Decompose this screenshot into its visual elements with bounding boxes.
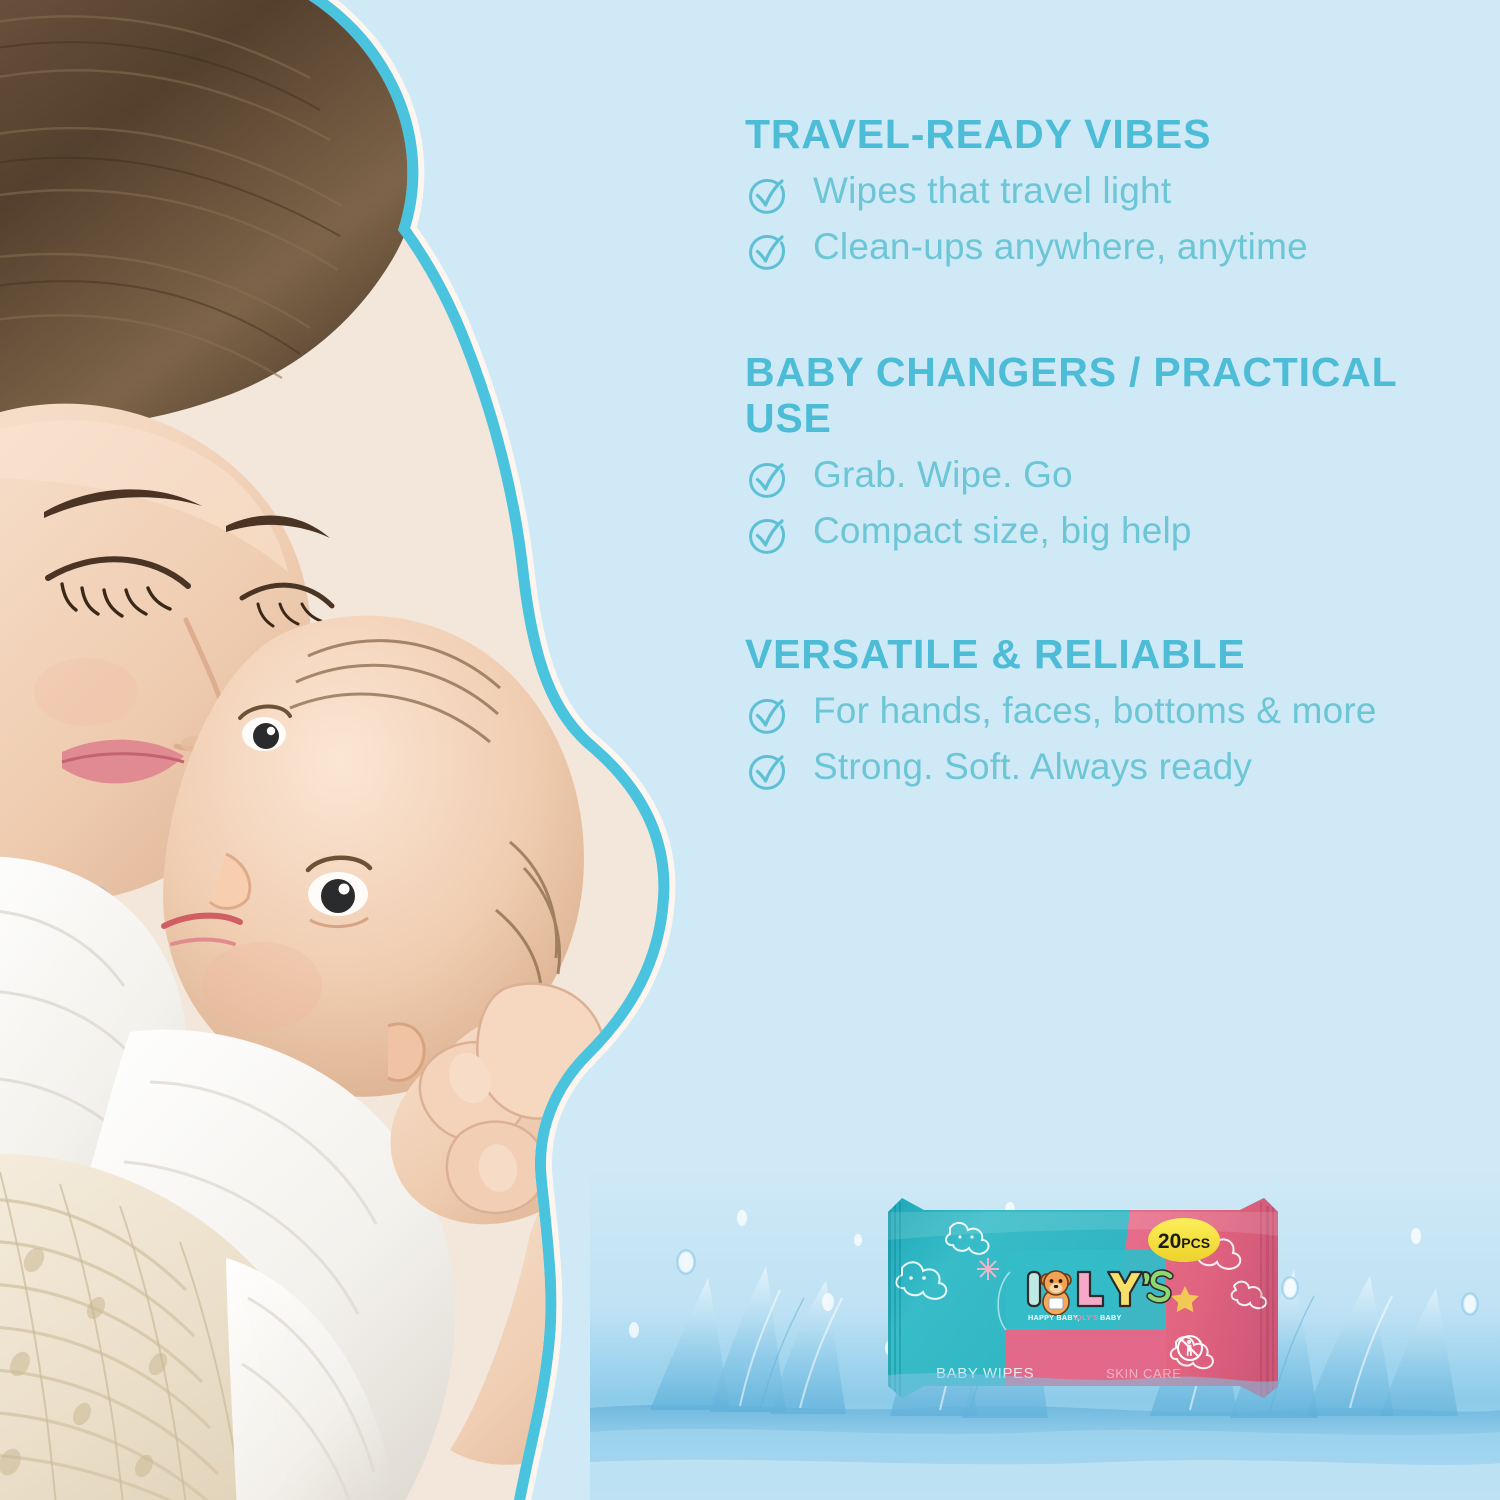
svg-text:IOLY'S: IOLY'S [1074, 1313, 1098, 1322]
bullet-item: Wipes that travel light [745, 168, 1445, 218]
feature-heading: BABY CHANGERS / PRACTICAL USE [745, 350, 1445, 442]
check-circle-icon [745, 694, 789, 738]
product-package: HAPPY BABY, IOLY'S BABY BABY WIPES SKIN … [880, 1190, 1286, 1412]
bullet-item: For hands, faces, bottoms & more [745, 688, 1445, 738]
bullet-list: Grab. Wipe. Go Compact size, big help [745, 452, 1445, 558]
feature-block-baby-changers: BABY CHANGERS / PRACTICAL USE Grab. Wipe… [745, 350, 1445, 558]
check-circle-icon [745, 174, 789, 218]
bullet-item: Compact size, big help [745, 508, 1445, 558]
bullet-item: Strong. Soft. Always ready [745, 744, 1445, 794]
bullet-text: Wipes that travel light [813, 168, 1171, 213]
count-badge: 20PCS [1148, 1218, 1220, 1262]
check-circle-icon [745, 514, 789, 558]
mother-and-baby-photo [0, 0, 690, 1500]
svg-text:HAPPY BABY,: HAPPY BABY, [1028, 1313, 1080, 1322]
product-infographic: HAPPY BABY, IOLY'S BABY BABY WIPES SKIN … [0, 0, 1500, 1500]
check-circle-icon [745, 458, 789, 502]
bullet-item: Clean-ups anywhere, anytime [745, 224, 1445, 274]
bullet-list: For hands, faces, bottoms & more Strong.… [745, 688, 1445, 794]
check-circle-icon [745, 230, 789, 274]
bullet-text: For hands, faces, bottoms & more [813, 688, 1377, 733]
bullet-list: Wipes that travel light Clean-ups anywhe… [745, 168, 1445, 274]
check-circle-icon [745, 750, 789, 794]
feature-heading: VERSATILE & RELIABLE [745, 632, 1445, 678]
feature-block-versatile: VERSATILE & RELIABLE For hands, faces, b… [745, 632, 1445, 794]
bullet-text: Strong. Soft. Always ready [813, 744, 1252, 789]
bullet-text: Compact size, big help [813, 508, 1192, 553]
bullet-text: Clean-ups anywhere, anytime [813, 224, 1308, 269]
bullet-item: Grab. Wipe. Go [745, 452, 1445, 502]
feature-block-travel-ready: TRAVEL-READY VIBES Wipes that travel lig… [745, 112, 1445, 274]
feature-list-column: TRAVEL-READY VIBES Wipes that travel lig… [745, 112, 1445, 800]
svg-text:BABY: BABY [1100, 1313, 1122, 1322]
bullet-text: Grab. Wipe. Go [813, 452, 1073, 497]
feature-heading: TRAVEL-READY VIBES [745, 112, 1445, 158]
